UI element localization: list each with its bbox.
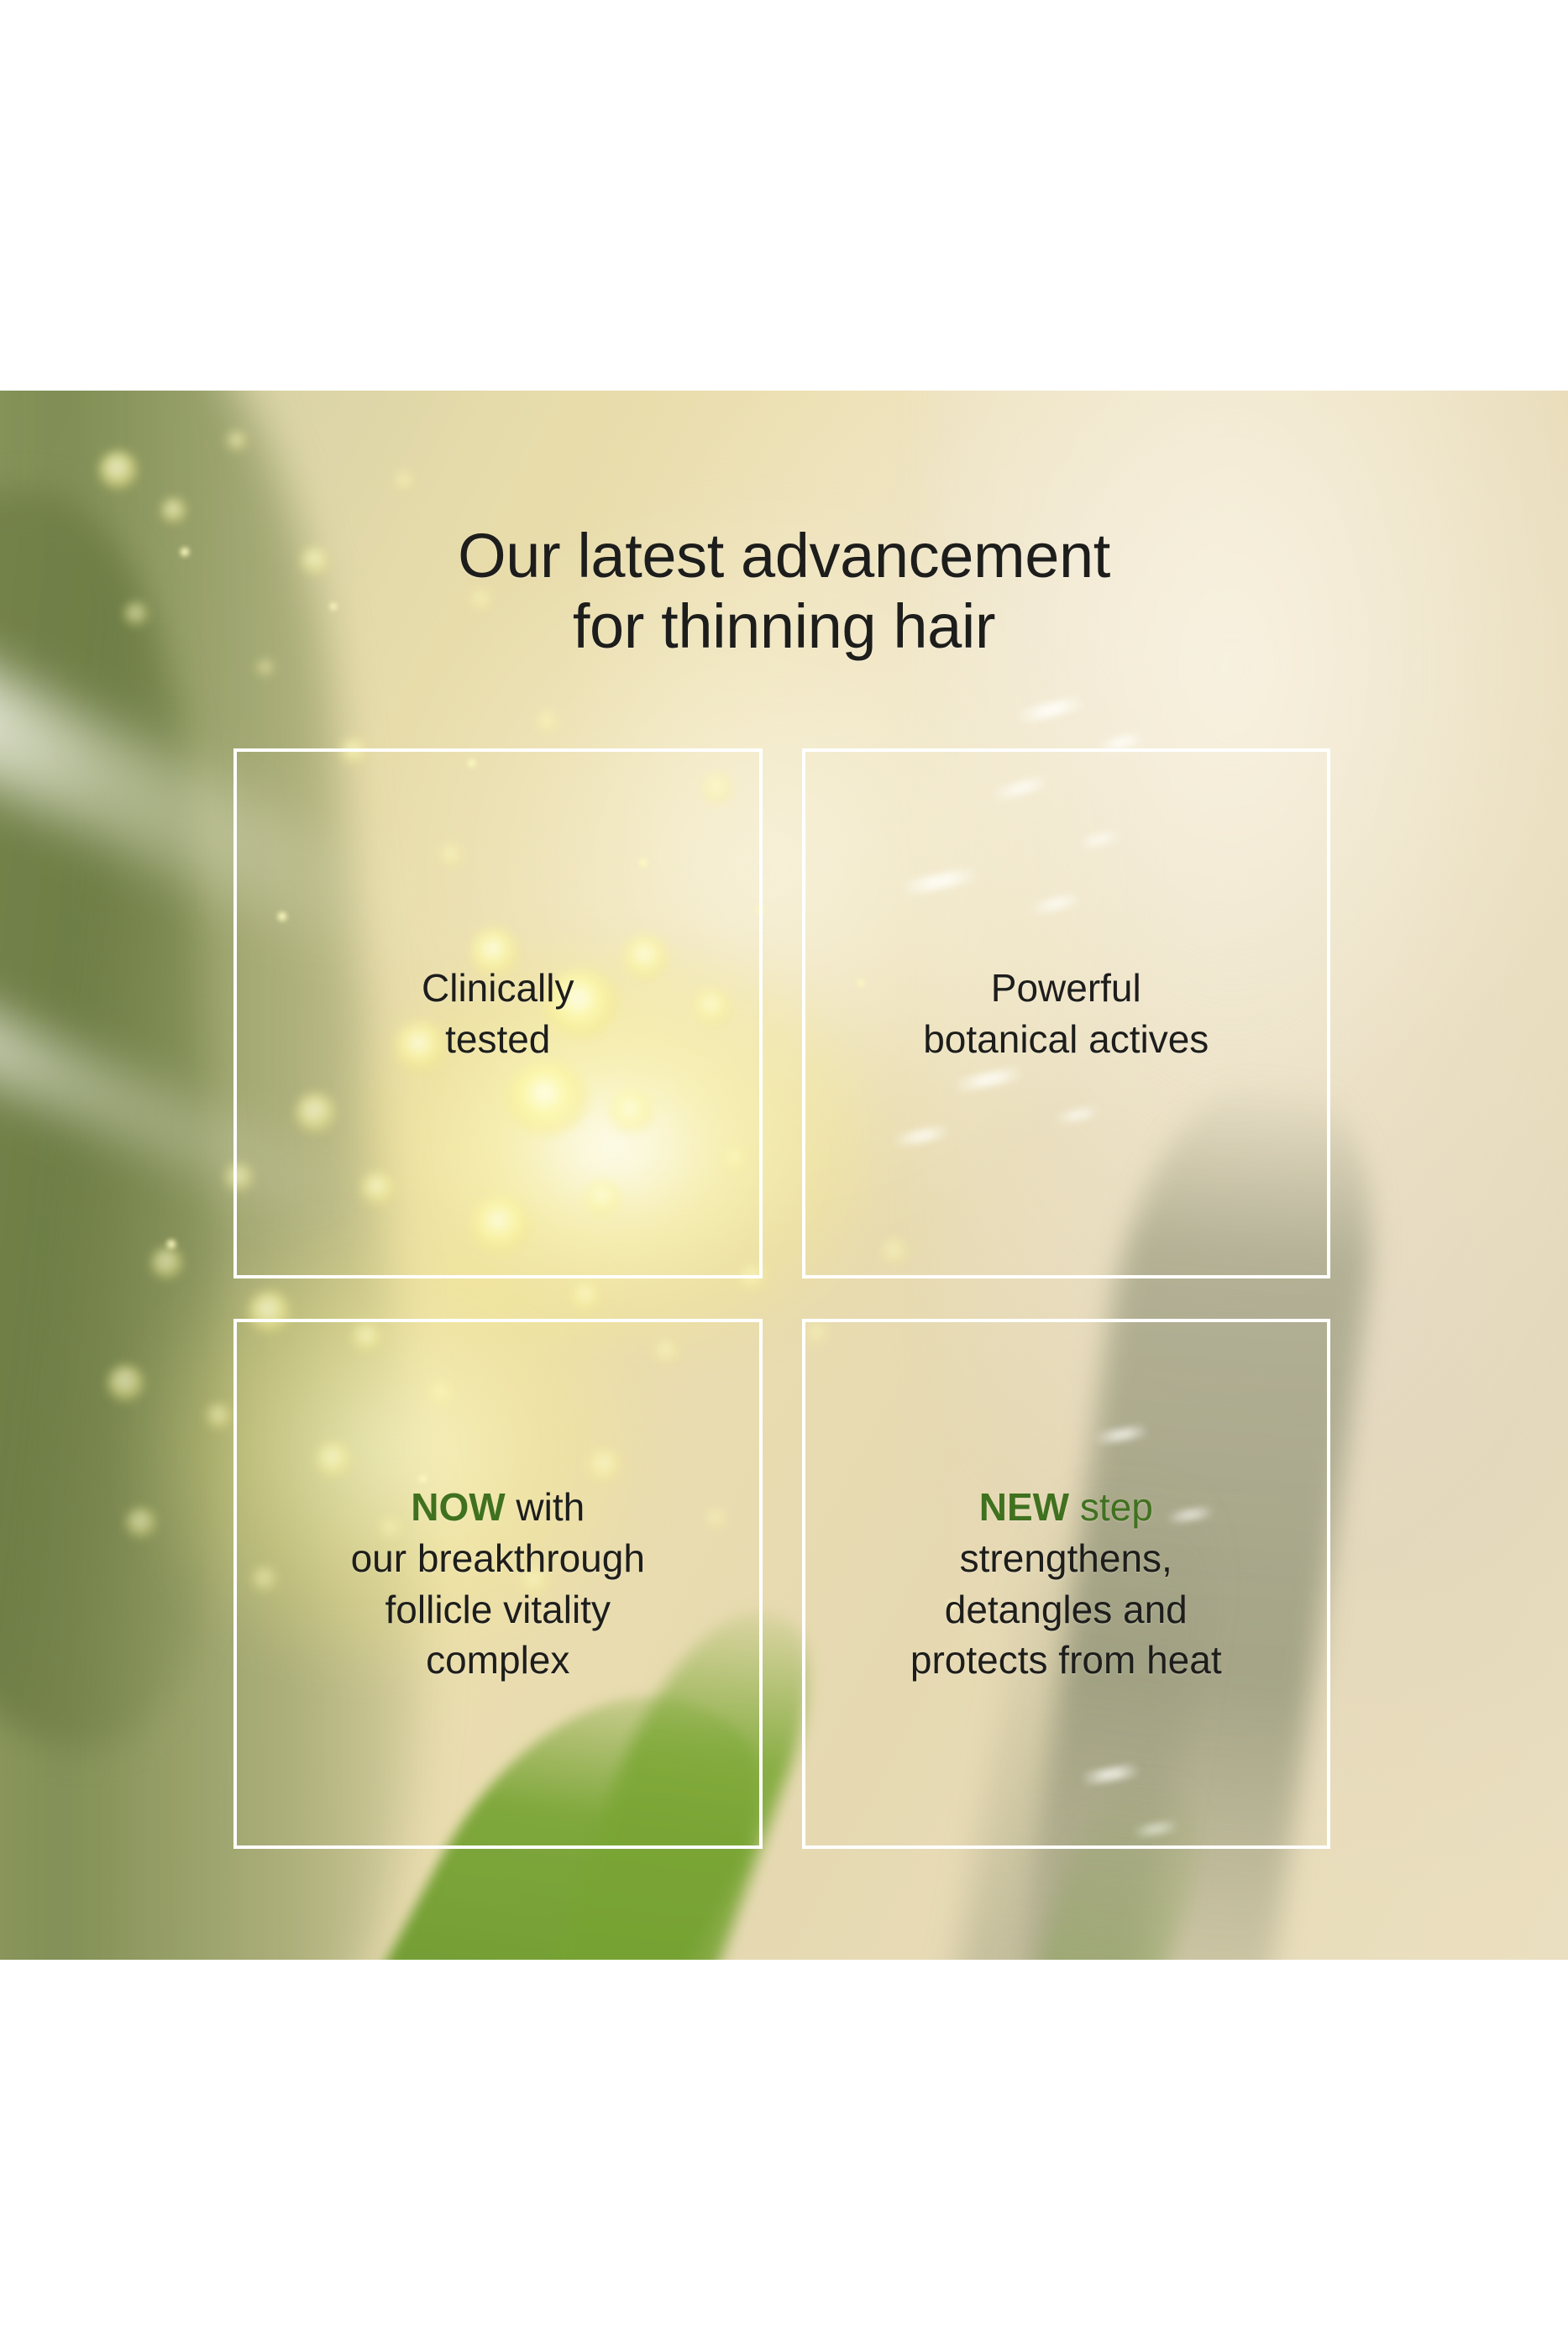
feature-line: Powerful <box>923 963 1209 1014</box>
page-canvas: Our latest advancement for thinning hair… <box>0 0 1568 2352</box>
feature-headline-line: NEW step <box>910 1482 1222 1533</box>
accent-word-new: NEW <box>979 1485 1069 1529</box>
feature-line: follicle vitality <box>351 1584 645 1635</box>
page-title: Our latest advancement for thinning hair <box>0 521 1568 663</box>
accent-suffix: with <box>506 1485 585 1529</box>
feature-text-clinically-tested: Clinically tested <box>422 963 574 1064</box>
headline-line-2: for thinning hair <box>0 591 1568 662</box>
feature-text-powerful-botanical-actives: Powerful botanical actives <box>923 963 1209 1064</box>
feature-grid: Clinically tested Powerful botanical act… <box>233 748 1330 1849</box>
feature-cell-powerful-botanical-actives: Powerful botanical actives <box>802 748 1331 1278</box>
feature-cell-follicle-vitality-complex: NOW with our breakthrough follicle vital… <box>233 1319 763 1849</box>
feature-text-follicle-vitality-complex: NOW with our breakthrough follicle vital… <box>351 1482 645 1686</box>
accent-suffix: step <box>1069 1485 1153 1529</box>
feature-line: complex <box>351 1635 645 1686</box>
feature-line: tested <box>422 1014 574 1065</box>
feature-text-new-step: NEW step strengthens, detangles and prot… <box>910 1482 1222 1686</box>
feature-line: botanical actives <box>923 1014 1209 1065</box>
feature-headline-line: NOW with <box>351 1482 645 1533</box>
accent-word-now: NOW <box>411 1485 505 1529</box>
product-hero-image: Our latest advancement for thinning hair… <box>0 391 1568 1960</box>
feature-line: our breakthrough <box>351 1533 645 1584</box>
feature-line: Clinically <box>422 963 574 1014</box>
feature-line: detangles and <box>910 1584 1222 1635</box>
feature-line: protects from heat <box>910 1635 1222 1686</box>
feature-line: strengthens, <box>910 1533 1222 1584</box>
feature-cell-new-step: NEW step strengthens, detangles and prot… <box>802 1319 1331 1849</box>
headline-line-1: Our latest advancement <box>0 521 1568 591</box>
feature-cell-clinically-tested: Clinically tested <box>233 748 763 1278</box>
